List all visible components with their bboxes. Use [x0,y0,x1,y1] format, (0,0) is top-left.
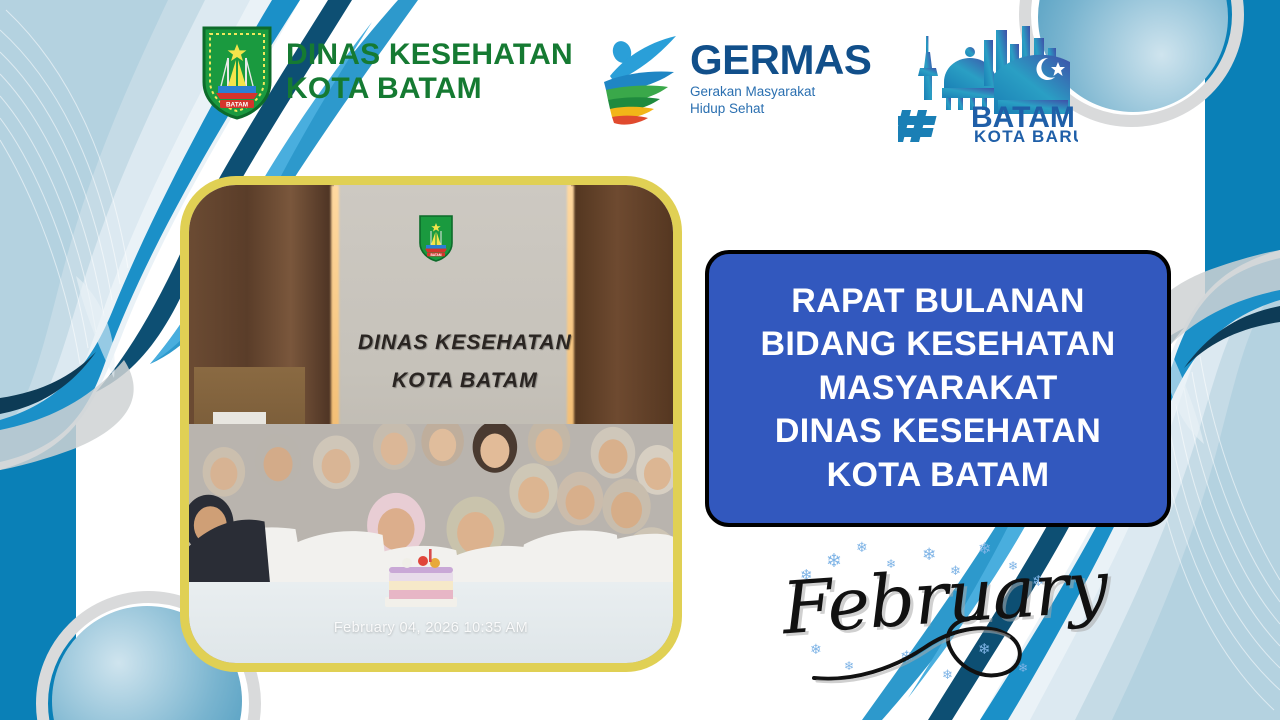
photo-timestamp: February 04, 2026 10:35 AM [334,620,528,636]
photo-wall-sign-line-2: KOTA BATAM [392,369,538,393]
photo-wall-emblem: BATAM [417,214,455,262]
batam-logo-line-2: KOTA BARU [974,127,1078,144]
title-line-2: BIDANG KESEHATAN [761,323,1116,367]
february-art: ❄ ❄ ❄ ❄ ❄ ❄ ❄ ❄ ❄ ❄ ❄ ❄ ❄ ❄ ❄ February [782,538,1082,690]
title-line-3: MASYARAKAT [818,367,1057,411]
meeting-photo: BATAM DINAS KESEHATAN KOTA BATAM [189,185,673,663]
snowflake-icon: ❄ [856,540,868,554]
photo-birthday-cake [377,541,465,615]
germas-subtitle-line-1: Gerakan Masyarakat [690,84,871,101]
svg-text:BATAM: BATAM [430,252,441,256]
dinkes-line-1: DINAS KESEHATAN [286,38,573,72]
germas-subtitle-line-2: Hidup Sehat [690,101,871,118]
poster-canvas: BATAM DINAS KESEHATAN KOTA BATAM GERMAS … [0,0,1280,720]
february-flourish [808,612,1058,686]
title-line-1: RAPAT BULANAN [791,280,1085,324]
germas-figure-icon [596,30,682,126]
title-line-5: KOTA BATAM [827,454,1050,498]
germas-wordmark: GERMAS Gerakan Masyarakat Hidup Sehat [690,39,871,118]
photo-wall-sign-line-1: DINAS KESEHATAN [358,331,572,355]
batam-city-emblem: BATAM [198,24,276,120]
germas-title: GERMAS [690,39,871,81]
germas-logo-group: GERMAS Gerakan Masyarakat Hidup Sehat [596,30,871,126]
title-banner: RAPAT BULANAN BIDANG KESEHATAN MASYARAKA… [705,250,1171,527]
dinkes-logo-group: BATAM DINAS KESEHATAN KOTA BATAM [198,24,573,120]
batam-skyline-icon: BATAM KOTA BARU [898,22,1078,144]
title-line-4: DINAS KESEHATAN [775,410,1101,454]
meeting-photo-frame: BATAM DINAS KESEHATAN KOTA BATAM [180,176,682,672]
emblem-label: BATAM [226,102,248,109]
batam-kota-baru-logo-group: BATAM KOTA BARU [898,22,1078,149]
dinkes-line-2: KOTA BATAM [286,72,573,106]
header-logo-row: BATAM DINAS KESEHATAN KOTA BATAM GERMAS … [0,0,1280,160]
germas-subtitle: Gerakan Masyarakat Hidup Sehat [690,84,871,118]
dinkes-logo-text: DINAS KESEHATAN KOTA BATAM [286,38,573,105]
